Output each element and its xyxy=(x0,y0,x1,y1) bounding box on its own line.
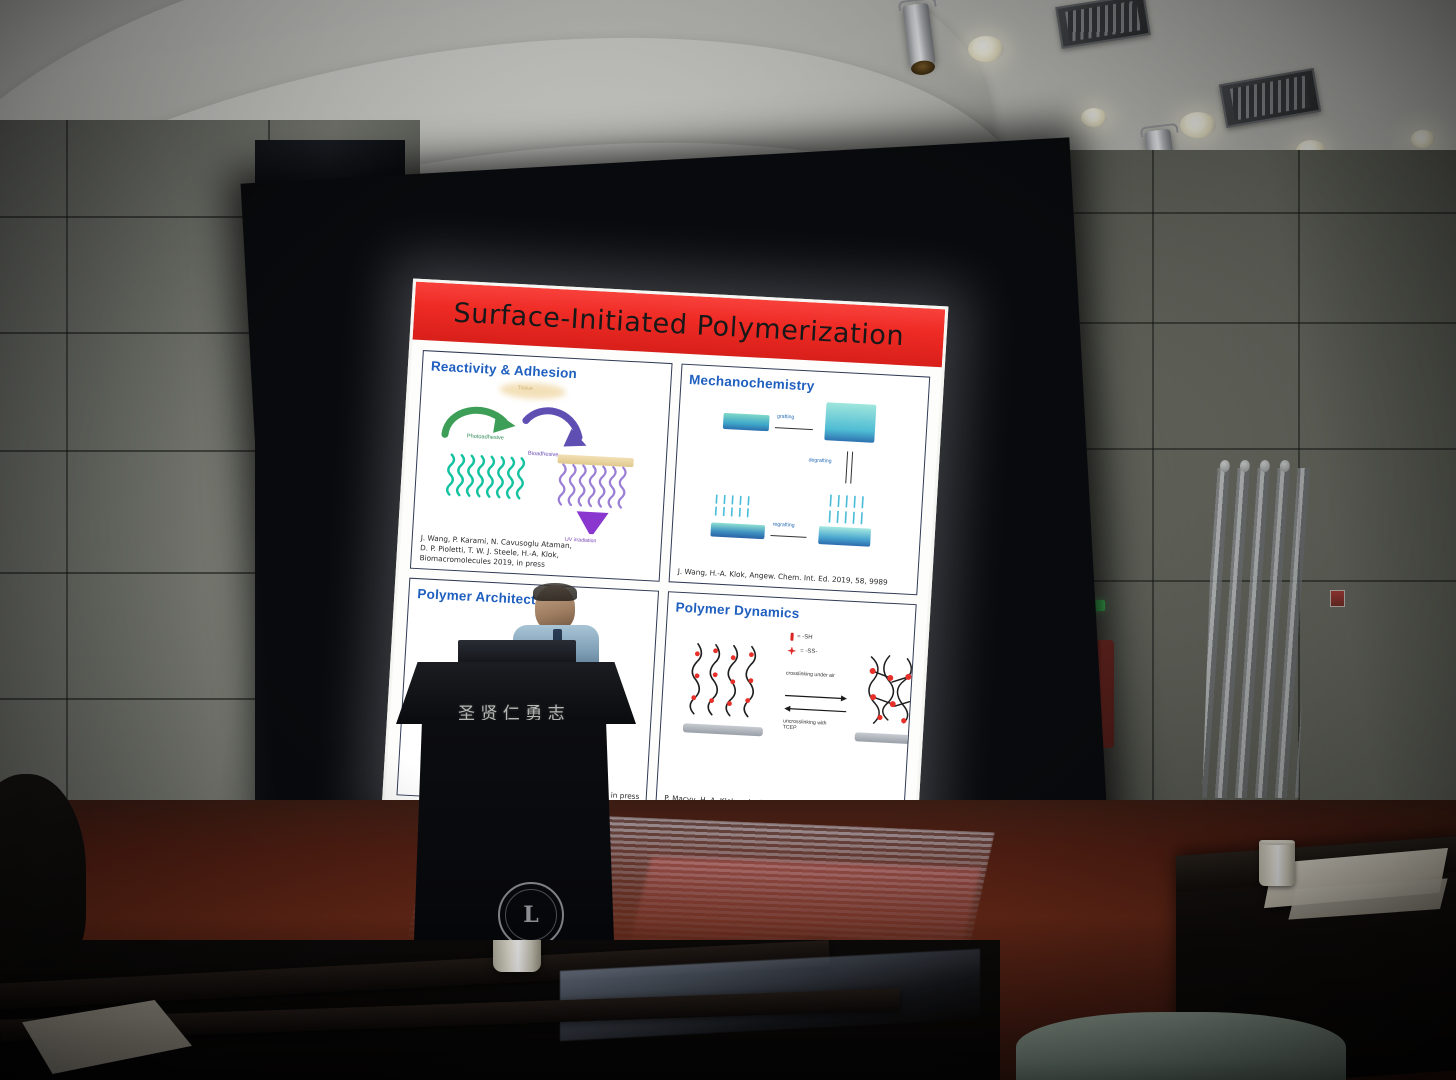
free-chains-right xyxy=(825,492,887,529)
sh-label: = -SH xyxy=(797,634,813,641)
downlight-icon xyxy=(968,36,1004,62)
legend-sh: = -SH xyxy=(790,632,813,641)
grafting-label: grafting xyxy=(777,414,795,421)
regrafting-label: regrafting xyxy=(772,522,794,529)
lecture-hall-photo: Surface-Initiated Polymerization Reactiv… xyxy=(0,0,1456,1080)
paper-cup xyxy=(1259,840,1295,886)
degrafting-label: degrafting xyxy=(808,457,831,464)
wall-pipe-bundle xyxy=(1202,468,1310,798)
podium-upper: 圣 贤 仁 勇 志 xyxy=(396,662,636,724)
ss-label: = -SS- xyxy=(800,648,818,655)
audience-chair xyxy=(1016,1012,1346,1080)
quadrant-mechanochemistry: Mechanochemistry grafting degrafting xyxy=(668,364,930,595)
reaction-arrow xyxy=(772,423,816,433)
crosslinked-network-right xyxy=(856,650,916,738)
legend-ss: = -SS- xyxy=(787,646,818,657)
linear-chains-left xyxy=(683,639,766,727)
polymer-brush-purple xyxy=(555,462,638,512)
downlight-icon xyxy=(1180,112,1216,138)
podium-body: L xyxy=(414,720,614,940)
ss-marker-icon xyxy=(787,646,797,655)
uncrosslinking-label: uncrosslinking with TCEP xyxy=(782,718,839,734)
figure-polymer-dynamics: = -SH = -SS- crosslinking under air xyxy=(656,592,916,821)
tissue-label: Tissue xyxy=(518,385,533,392)
substrate-slab-bottom-right xyxy=(818,526,871,547)
reaction-arrow xyxy=(768,531,810,541)
polymer-brush-teal xyxy=(443,452,546,503)
downlight-icon xyxy=(1411,130,1435,148)
vertical-arrow xyxy=(841,449,855,490)
quadrant-reactivity-adhesion: Reactivity & Adhesion Tissue Photoadhesi… xyxy=(410,350,672,581)
lectern-podium: 圣 贤 仁 勇 志 L xyxy=(400,640,632,940)
speaker-hair xyxy=(533,583,577,601)
free-chains-left xyxy=(711,492,772,521)
bidirectional-arrows xyxy=(781,690,848,719)
figure-mechanochemistry: grafting degrafting xyxy=(669,365,929,594)
crosslinking-label: crosslinking under air xyxy=(786,670,838,679)
quadrant-polymer-dynamics: Polymer Dynamics xyxy=(655,591,917,822)
alarm-box-icon xyxy=(1330,590,1345,607)
substrate-slab-bottom-left xyxy=(710,522,765,539)
sh-marker-icon xyxy=(790,632,793,640)
brush-block-large xyxy=(824,402,876,443)
uv-funnel-icon xyxy=(571,509,613,539)
university-emblem: L xyxy=(498,882,564,948)
downlight-icon xyxy=(1081,108,1107,127)
slide-title: Surface-Initiated Polymerization xyxy=(453,297,905,352)
brush-block-small xyxy=(722,413,769,431)
